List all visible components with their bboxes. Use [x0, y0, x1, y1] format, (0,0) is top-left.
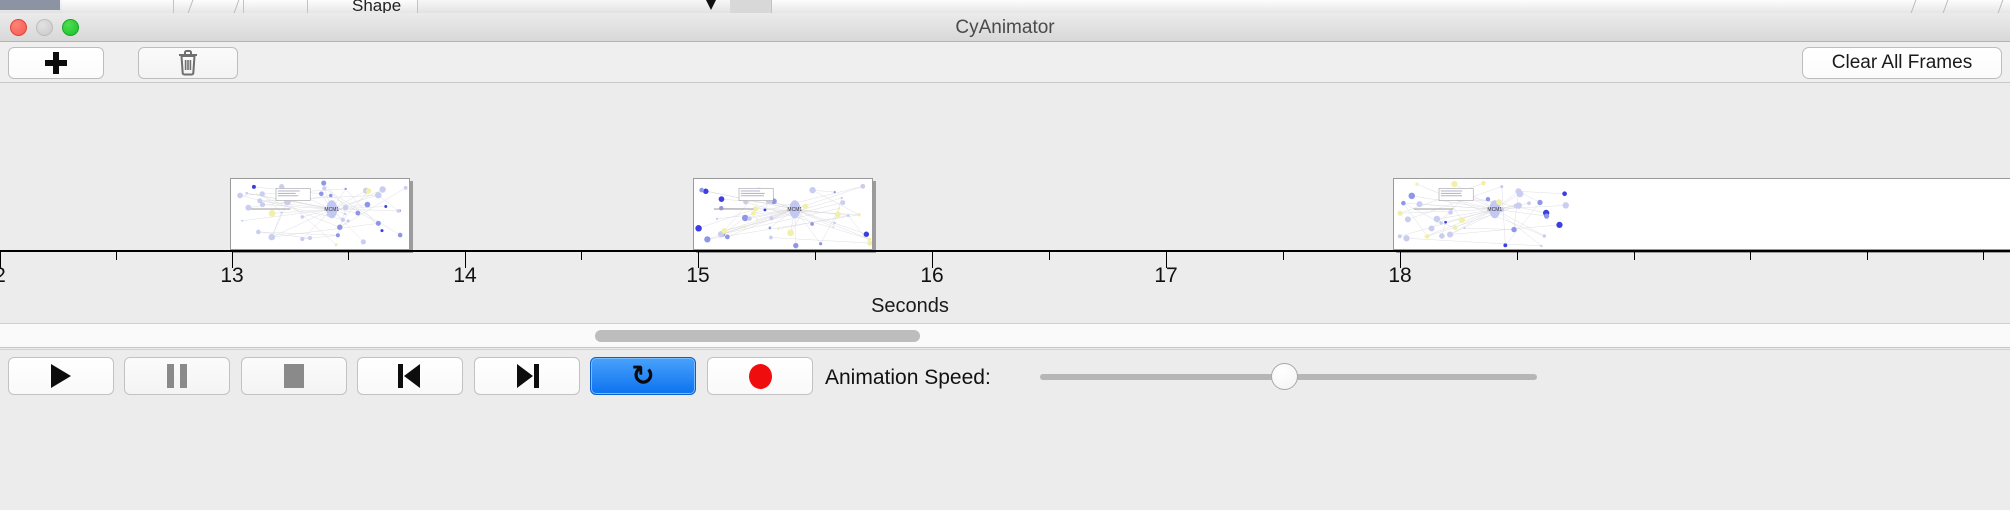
timeline-canvas[interactable]: MCM1MCM1MCM1: [0, 83, 2010, 250]
skip-forward-icon: [514, 364, 540, 388]
ruler-tick-label: 16: [920, 264, 943, 288]
ruler-tick-minor: [116, 252, 117, 260]
ruler-tick-label: 13: [220, 264, 243, 288]
next-frame-button[interactable]: [474, 357, 580, 395]
play-button[interactable]: [8, 357, 114, 395]
title-bar: CyAnimator: [0, 13, 2010, 42]
timeline-scrollbar[interactable]: [0, 324, 2010, 348]
background-window-text: Shape: [352, 0, 401, 13]
ruler-tick-minor: [1867, 252, 1868, 260]
animation-speed-label: Animation Speed:: [825, 366, 991, 390]
svg-text:MCM1: MCM1: [1487, 207, 1502, 213]
background-window-strip: Shape: [0, 0, 2010, 13]
ruler-tick-minor: [1517, 252, 1518, 260]
timeline-axis-title: Seconds: [0, 295, 2010, 318]
record-icon: [749, 364, 772, 389]
timeline-frame-thumbnail[interactable]: MCM1: [693, 178, 873, 250]
loop-icon: ↻: [631, 362, 654, 390]
ruler-tick-minor: [1049, 252, 1050, 260]
stop-icon: [284, 364, 304, 388]
network-graph-preview: MCM1: [1394, 179, 1574, 250]
ruler-tick-label: 18: [1388, 264, 1411, 288]
ruler-tick-minor: [1634, 252, 1635, 260]
network-graph-preview: MCM1: [231, 179, 410, 250]
pause-icon: [167, 364, 187, 388]
timeline-tick-labels: 2131415161718: [0, 264, 2010, 294]
loop-button[interactable]: ↻: [590, 357, 696, 395]
prev-frame-button[interactable]: [357, 357, 463, 395]
record-button[interactable]: [707, 357, 813, 395]
scrollbar-thumb[interactable]: [595, 330, 920, 342]
add-frame-button[interactable]: [8, 47, 104, 79]
ruler-tick-minor: [1283, 252, 1284, 260]
window-title: CyAnimator: [0, 13, 2010, 42]
pause-button[interactable]: [124, 357, 230, 395]
toolbar: Clear All Frames: [0, 42, 2010, 83]
stop-button[interactable]: [241, 357, 347, 395]
ruler-tick-label: 17: [1154, 264, 1177, 288]
clear-all-frames-button[interactable]: Clear All Frames: [1802, 47, 2002, 79]
delete-frame-button[interactable]: [138, 47, 238, 79]
ruler-tick-minor: [815, 252, 816, 260]
background-window-tab: [0, 0, 60, 10]
play-icon: [51, 364, 71, 388]
plus-icon: [45, 52, 67, 74]
trash-icon: [177, 50, 199, 76]
ruler-tick-label: 14: [453, 264, 476, 288]
playback-control-bar: Animation Speed: ↻: [0, 349, 2010, 510]
animation-speed-slider[interactable]: [1040, 374, 1537, 380]
ruler-tick-minor: [348, 252, 349, 260]
svg-text:MCM1: MCM1: [324, 207, 339, 213]
ruler-tick-label: 15: [686, 264, 709, 288]
skip-back-icon: [397, 364, 423, 388]
ruler-tick-minor: [1750, 252, 1751, 260]
timeline-frame-thumbnail[interactable]: MCM1: [1393, 178, 2010, 250]
ruler-tick-label: 2: [0, 264, 6, 288]
ruler-tick-minor: [1983, 252, 1984, 260]
animation-speed-slider-thumb[interactable]: [1271, 363, 1298, 390]
network-graph-preview: MCM1: [694, 179, 873, 250]
timeline-frame-thumbnail[interactable]: MCM1: [230, 178, 410, 250]
svg-text:MCM1: MCM1: [787, 207, 802, 213]
ruler-tick-minor: [581, 252, 582, 260]
cyanimator-window: Shape CyAnimator Clear All Frames MCM1MC…: [0, 0, 2010, 510]
